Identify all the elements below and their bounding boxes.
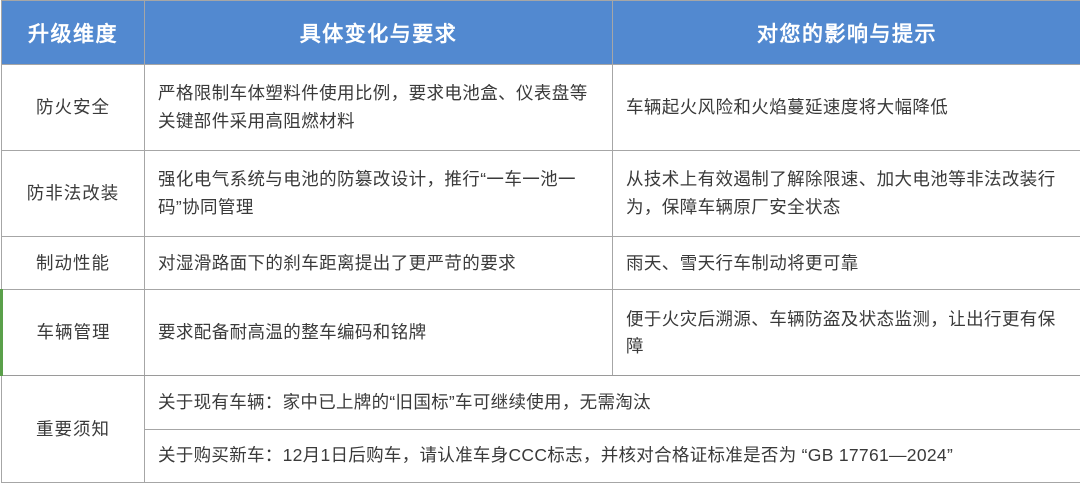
table-container: 升级维度 具体变化与要求 对您的影响与提示 防火安全 严格限制车体塑料件使用比例… [0,0,1080,483]
header-row: 升级维度 具体变化与要求 对您的影响与提示 [2,1,1080,65]
cell-change: 对湿滑路面下的刹车距离提出了更严苛的要求 [145,237,613,290]
cell-change: 要求配备耐高温的整车编码和铭牌 [145,290,613,376]
table-row: 防非法改装 强化电气系统与电池的防篡改设计，推行“一车一池一码”协同管理 从技术… [2,151,1080,237]
table-row-highlighted: 车辆管理 要求配备耐高温的整车编码和铭牌 便于火灾后溯源、车辆防盗及状态监测，让… [2,290,1080,376]
table-row-notes-second: 关于购买新车：12月1日后购车，请认准车身CCC标志，并核对合格证标准是否为 “… [2,429,1080,482]
column-header-changes: 具体变化与要求 [145,1,613,65]
cell-impact: 便于火灾后溯源、车辆防盗及状态监测，让出行更有保障 [613,290,1080,376]
cell-dimension: 防火安全 [2,65,145,151]
cell-dimension: 车辆管理 [2,290,145,376]
table-body: 防火安全 严格限制车体塑料件使用比例，要求电池盒、仪表盘等关键部件采用高阻燃材料… [2,65,1080,483]
cell-impact: 车辆起火风险和火焰蔓延速度将大幅降低 [613,65,1080,151]
column-header-impact: 对您的影响与提示 [613,1,1080,65]
cell-notes-label: 重要须知 [2,376,145,483]
cell-dimension: 防非法改装 [2,151,145,237]
table-row: 防火安全 严格限制车体塑料件使用比例，要求电池盒、仪表盘等关键部件采用高阻燃材料… [2,65,1080,151]
cell-note-new-vehicle-purchase: 关于购买新车：12月1日后购车，请认准车身CCC标志，并核对合格证标准是否为 “… [145,429,1080,482]
cell-change: 严格限制车体塑料件使用比例，要求电池盒、仪表盘等关键部件采用高阻燃材料 [145,65,613,151]
cell-impact: 从技术上有效遏制了解除限速、加大电池等非法改装行为，保障车辆原厂安全状态 [613,151,1080,237]
table-row-notes-first: 重要须知 关于现有车辆：家中已上牌的“旧国标”车可继续使用，无需淘汰 [2,376,1080,429]
cell-change: 强化电气系统与电池的防篡改设计，推行“一车一池一码”协同管理 [145,151,613,237]
table-header: 升级维度 具体变化与要求 对您的影响与提示 [2,1,1080,65]
table-row: 制动性能 对湿滑路面下的刹车距离提出了更严苛的要求 雨天、雪天行车制动将更可靠 [2,237,1080,290]
cell-note-existing-vehicles: 关于现有车辆：家中已上牌的“旧国标”车可继续使用，无需淘汰 [145,376,1080,429]
column-header-dimension: 升级维度 [2,1,145,65]
cell-dimension: 制动性能 [2,237,145,290]
cell-impact: 雨天、雪天行车制动将更可靠 [613,237,1080,290]
spec-comparison-table: 升级维度 具体变化与要求 对您的影响与提示 防火安全 严格限制车体塑料件使用比例… [0,0,1080,483]
